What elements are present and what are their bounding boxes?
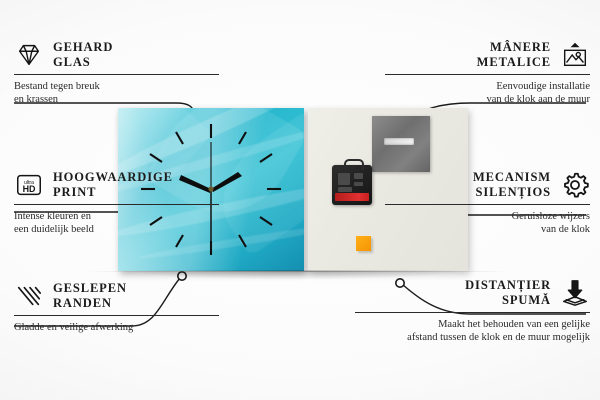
feature-distantier-spuma: DISTANȚIER SPUMĂ Maakt het behouden van … — [355, 278, 590, 344]
divider — [385, 74, 590, 75]
feature-header: DISTANȚIER SPUMĂ — [355, 278, 590, 308]
feature-title: DISTANȚIER SPUMĂ — [465, 278, 551, 308]
feature-mecanism-silentios: MECANISM SILENȚIOS Geruisloze wijzers va… — [385, 170, 590, 236]
feature-title: MECANISM SILENȚIOS — [473, 170, 551, 200]
feature-manere-metalice: MÂNERE METALICE Eenvoudige installatie v… — [385, 40, 590, 106]
clock-mechanism-part — [332, 165, 372, 205]
diamond-icon — [14, 40, 44, 70]
battery-label — [335, 193, 369, 201]
feature-title: GESLEPEN RANDEN — [53, 281, 127, 311]
divider — [385, 204, 590, 205]
feature-gehard-glas: GEHARD GLAS Bestand tegen breuk en krass… — [14, 40, 219, 106]
feature-header: MECANISM SILENȚIOS — [385, 170, 590, 200]
feature-hoogwaardige-print: ultra HD HOOGWAARDIGE PRINT Intense kleu… — [14, 170, 219, 236]
ultra-hd-icon: ultra HD — [14, 170, 44, 200]
infographic-canvas: GEHARD GLAS Bestand tegen breuk en krass… — [0, 0, 600, 400]
spacer-press-icon — [560, 278, 590, 308]
feature-title: MÂNERE METALICE — [477, 40, 551, 70]
foam-spacer-part — [356, 236, 371, 251]
metal-hanger-part — [372, 116, 430, 172]
svg-text:HD: HD — [23, 184, 36, 194]
hanger-slot — [384, 138, 414, 145]
beveled-edges-icon — [14, 281, 44, 311]
feature-title: HOOGWAARDIGE PRINT — [53, 170, 173, 200]
divider — [355, 312, 590, 313]
feature-header: MÂNERE METALICE — [385, 40, 590, 70]
floor-line — [88, 271, 508, 272]
feature-header: GESLEPEN RANDEN — [14, 281, 219, 311]
feature-geslepen-randen: GESLEPEN RANDEN Gladde en veilige afwerk… — [14, 281, 219, 334]
feature-title: GEHARD GLAS — [53, 40, 113, 70]
gear-icon — [560, 170, 590, 200]
picture-frame-icon — [560, 40, 590, 70]
divider — [14, 74, 219, 75]
divider — [14, 204, 219, 205]
feature-header: GEHARD GLAS — [14, 40, 219, 70]
feature-header: ultra HD HOOGWAARDIGE PRINT — [14, 170, 219, 200]
mechanism-handle — [344, 159, 364, 170]
divider — [14, 315, 219, 316]
